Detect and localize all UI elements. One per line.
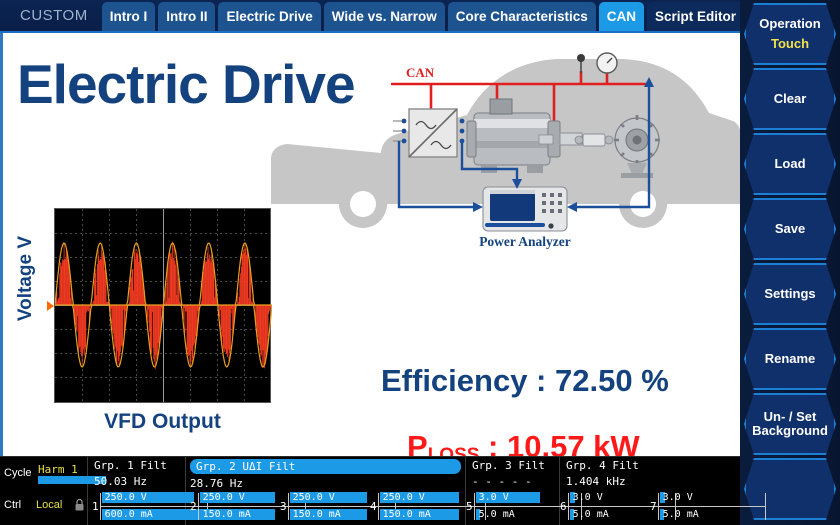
tab-script-editor[interactable]: Script Editor [647, 2, 744, 31]
group-2-title: Grp. 2 UΔI Filt [190, 459, 461, 474]
group-1-title: Grp. 1 Filt [94, 459, 167, 472]
tab-bar: CUSTOM Intro I Intro II Electric Drive W… [0, 0, 740, 33]
cycle-label: Cycle [4, 467, 32, 479]
ctrl-label: Ctrl [4, 499, 21, 511]
channel-number-6: 6 [560, 500, 567, 513]
softkey-unset-background[interactable]: Un- / Set Background [744, 393, 836, 455]
tab-electric-drive[interactable]: Electric Drive [218, 2, 320, 31]
softkey-operation[interactable]: Operation Touch [744, 3, 836, 65]
scope-y-axis-label: Voltage V [15, 236, 37, 321]
group-4-freq: 1.404 kHz [566, 475, 639, 488]
scope-trace [55, 209, 272, 404]
ploss-value: 10.57 kW [507, 429, 640, 456]
power-analyzer-label: Power Analyzer [479, 234, 571, 249]
vfd-scope: Voltage V [21, 208, 271, 443]
channel-3-voltage: 250.0 V [290, 492, 335, 503]
ploss-separator: : [479, 429, 507, 456]
scope-caption: VFD Output [54, 410, 271, 434]
channel-6-voltage: 3.0 V [570, 492, 603, 503]
tab-wide-vs-narrow[interactable]: Wide vs. Narrow [324, 2, 445, 31]
cycle-value[interactable]: Harm 1 [38, 463, 78, 476]
channel-7-voltage: 3.0 V [660, 492, 693, 503]
gauge-icon [597, 53, 617, 73]
softkey-settings[interactable]: Settings [744, 263, 836, 325]
channel-bars-7: 3.0 V5.0 mA [658, 491, 766, 522]
softkey-load[interactable]: Load [744, 133, 836, 195]
channel-5-current: 5.0 mA [476, 509, 515, 520]
softkey-operation-label: Operation [759, 17, 820, 31]
power-analyzer-icon [483, 187, 567, 231]
power-loss-readout: PLOSS : 10.57 kW [407, 429, 640, 456]
softkey-clear-label: Clear [774, 92, 807, 106]
softkey-load-label: Load [774, 157, 805, 171]
tab-intro-2[interactable]: Intro II [158, 2, 215, 31]
channel-number-4: 4 [370, 500, 377, 513]
group-3-freq: - - - - - [472, 475, 545, 488]
softkey-unset-background-label: Un- / Set Background [752, 410, 828, 438]
status-bar: Cycle Harm 1 Ctrl Local Grp. 1 Filt 50.0… [0, 456, 740, 525]
channel-1-voltage: 250.0 V [102, 492, 147, 503]
ploss-label: P [407, 429, 428, 456]
channel-number-5: 5 [466, 500, 473, 513]
custom-label: CUSTOM [16, 7, 102, 31]
channel-7-current: 5.0 mA [660, 509, 699, 520]
softkey-save[interactable]: Save [744, 198, 836, 260]
softkey-save-label: Save [775, 222, 805, 236]
channel-5-voltage: 3.0 V [476, 492, 509, 503]
scope-plot-area[interactable] [54, 208, 271, 403]
efficiency-value: 72.50 % [555, 363, 669, 398]
efficiency-label: Efficiency : [381, 363, 555, 398]
softkey-rename[interactable]: Rename [744, 328, 836, 390]
channel-6-current: 5.0 mA [570, 509, 609, 520]
ctrl-value[interactable]: Local [36, 499, 62, 511]
channel-number-7: 7 [650, 500, 657, 513]
application-window: CUSTOM Intro I Intro II Electric Drive W… [0, 0, 840, 525]
ploss-subscript: LOSS [428, 445, 480, 456]
channel-number-1: 1 [92, 500, 99, 513]
can-label: CAN [406, 65, 435, 80]
lock-icon [74, 498, 85, 511]
channel-2-current: 150.0 mA [200, 509, 251, 520]
channel-4-voltage: 250.0 V [380, 492, 425, 503]
channel-number-3: 3 [280, 500, 287, 513]
electric-drive-diagram: CAN [271, 41, 740, 261]
tab-intro-1[interactable]: Intro I [102, 2, 156, 31]
channel-2-voltage: 250.0 V [200, 492, 245, 503]
group-2-freq: 28.76 Hz [190, 477, 461, 490]
soft-key-sidebar: Operation Touch Clear Load Save Settings… [740, 0, 840, 525]
efficiency-readout: Efficiency : 72.50 % [381, 363, 669, 399]
group-1-freq: 50.03 Hz [94, 475, 167, 488]
softkey-rename-label: Rename [765, 352, 816, 366]
softkey-clear[interactable]: Clear [744, 68, 836, 130]
group-3-title: Grp. 3 Filt [472, 459, 545, 472]
channel-1-current: 600.0 mA [102, 509, 153, 520]
channel-4-current: 150.0 mA [380, 509, 431, 520]
softkey-operation-value: Touch [771, 37, 809, 51]
softkey-settings-label: Settings [764, 287, 815, 301]
content-canvas: Electric Drive [0, 33, 740, 456]
group-4-title: Grp. 4 Filt [566, 459, 639, 472]
tab-core-characteristics[interactable]: Core Characteristics [448, 2, 596, 31]
trigger-marker-icon [47, 301, 54, 311]
channel-meter-7[interactable]: 73.0 V5.0 mA [650, 491, 766, 522]
status-control-block: Cycle Harm 1 Ctrl Local [0, 457, 88, 525]
channel-3-current: 150.0 mA [290, 509, 341, 520]
channel-number-2: 2 [190, 500, 197, 513]
tab-can[interactable]: CAN [599, 2, 644, 31]
